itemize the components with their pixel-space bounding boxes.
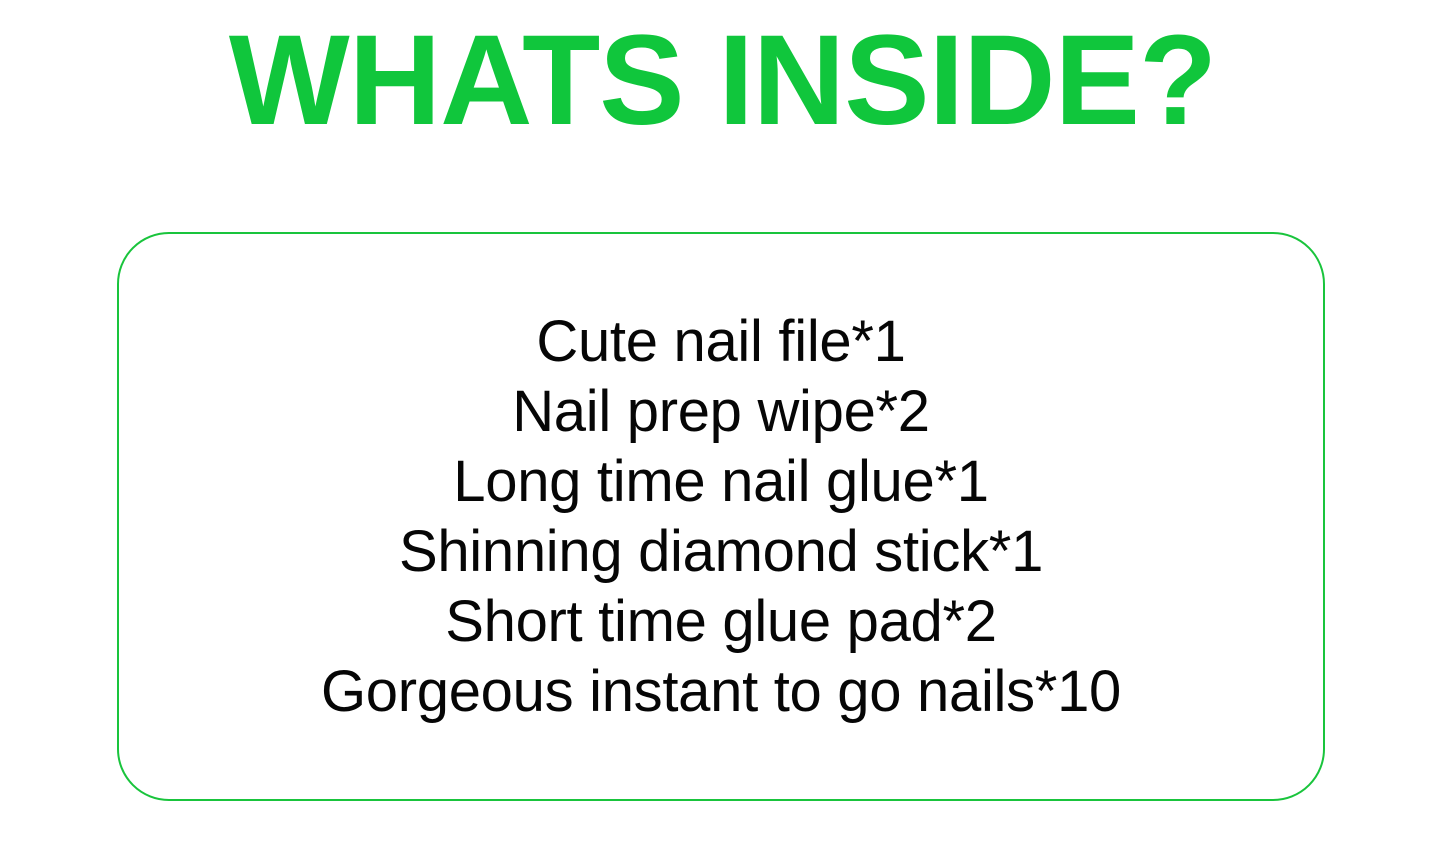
page-root: WHATS INSIDE? Cute nail file*1 Nail prep… bbox=[0, 0, 1445, 861]
contents-card-body: Cute nail file*1 Nail prep wipe*2 Long t… bbox=[119, 234, 1323, 799]
page-title: WHATS INSIDE? bbox=[0, 14, 1445, 148]
contents-card: Cute nail file*1 Nail prep wipe*2 Long t… bbox=[117, 232, 1325, 801]
list-item: Cute nail file*1 bbox=[321, 307, 1121, 377]
list-item: Shinning diamond stick*1 bbox=[321, 517, 1121, 587]
list-item: Short time glue pad*2 bbox=[321, 587, 1121, 657]
list-item: Gorgeous instant to go nails*10 bbox=[321, 657, 1121, 727]
included-items-list: Cute nail file*1 Nail prep wipe*2 Long t… bbox=[321, 307, 1121, 727]
list-item: Nail prep wipe*2 bbox=[321, 377, 1121, 447]
list-item: Long time nail glue*1 bbox=[321, 447, 1121, 517]
